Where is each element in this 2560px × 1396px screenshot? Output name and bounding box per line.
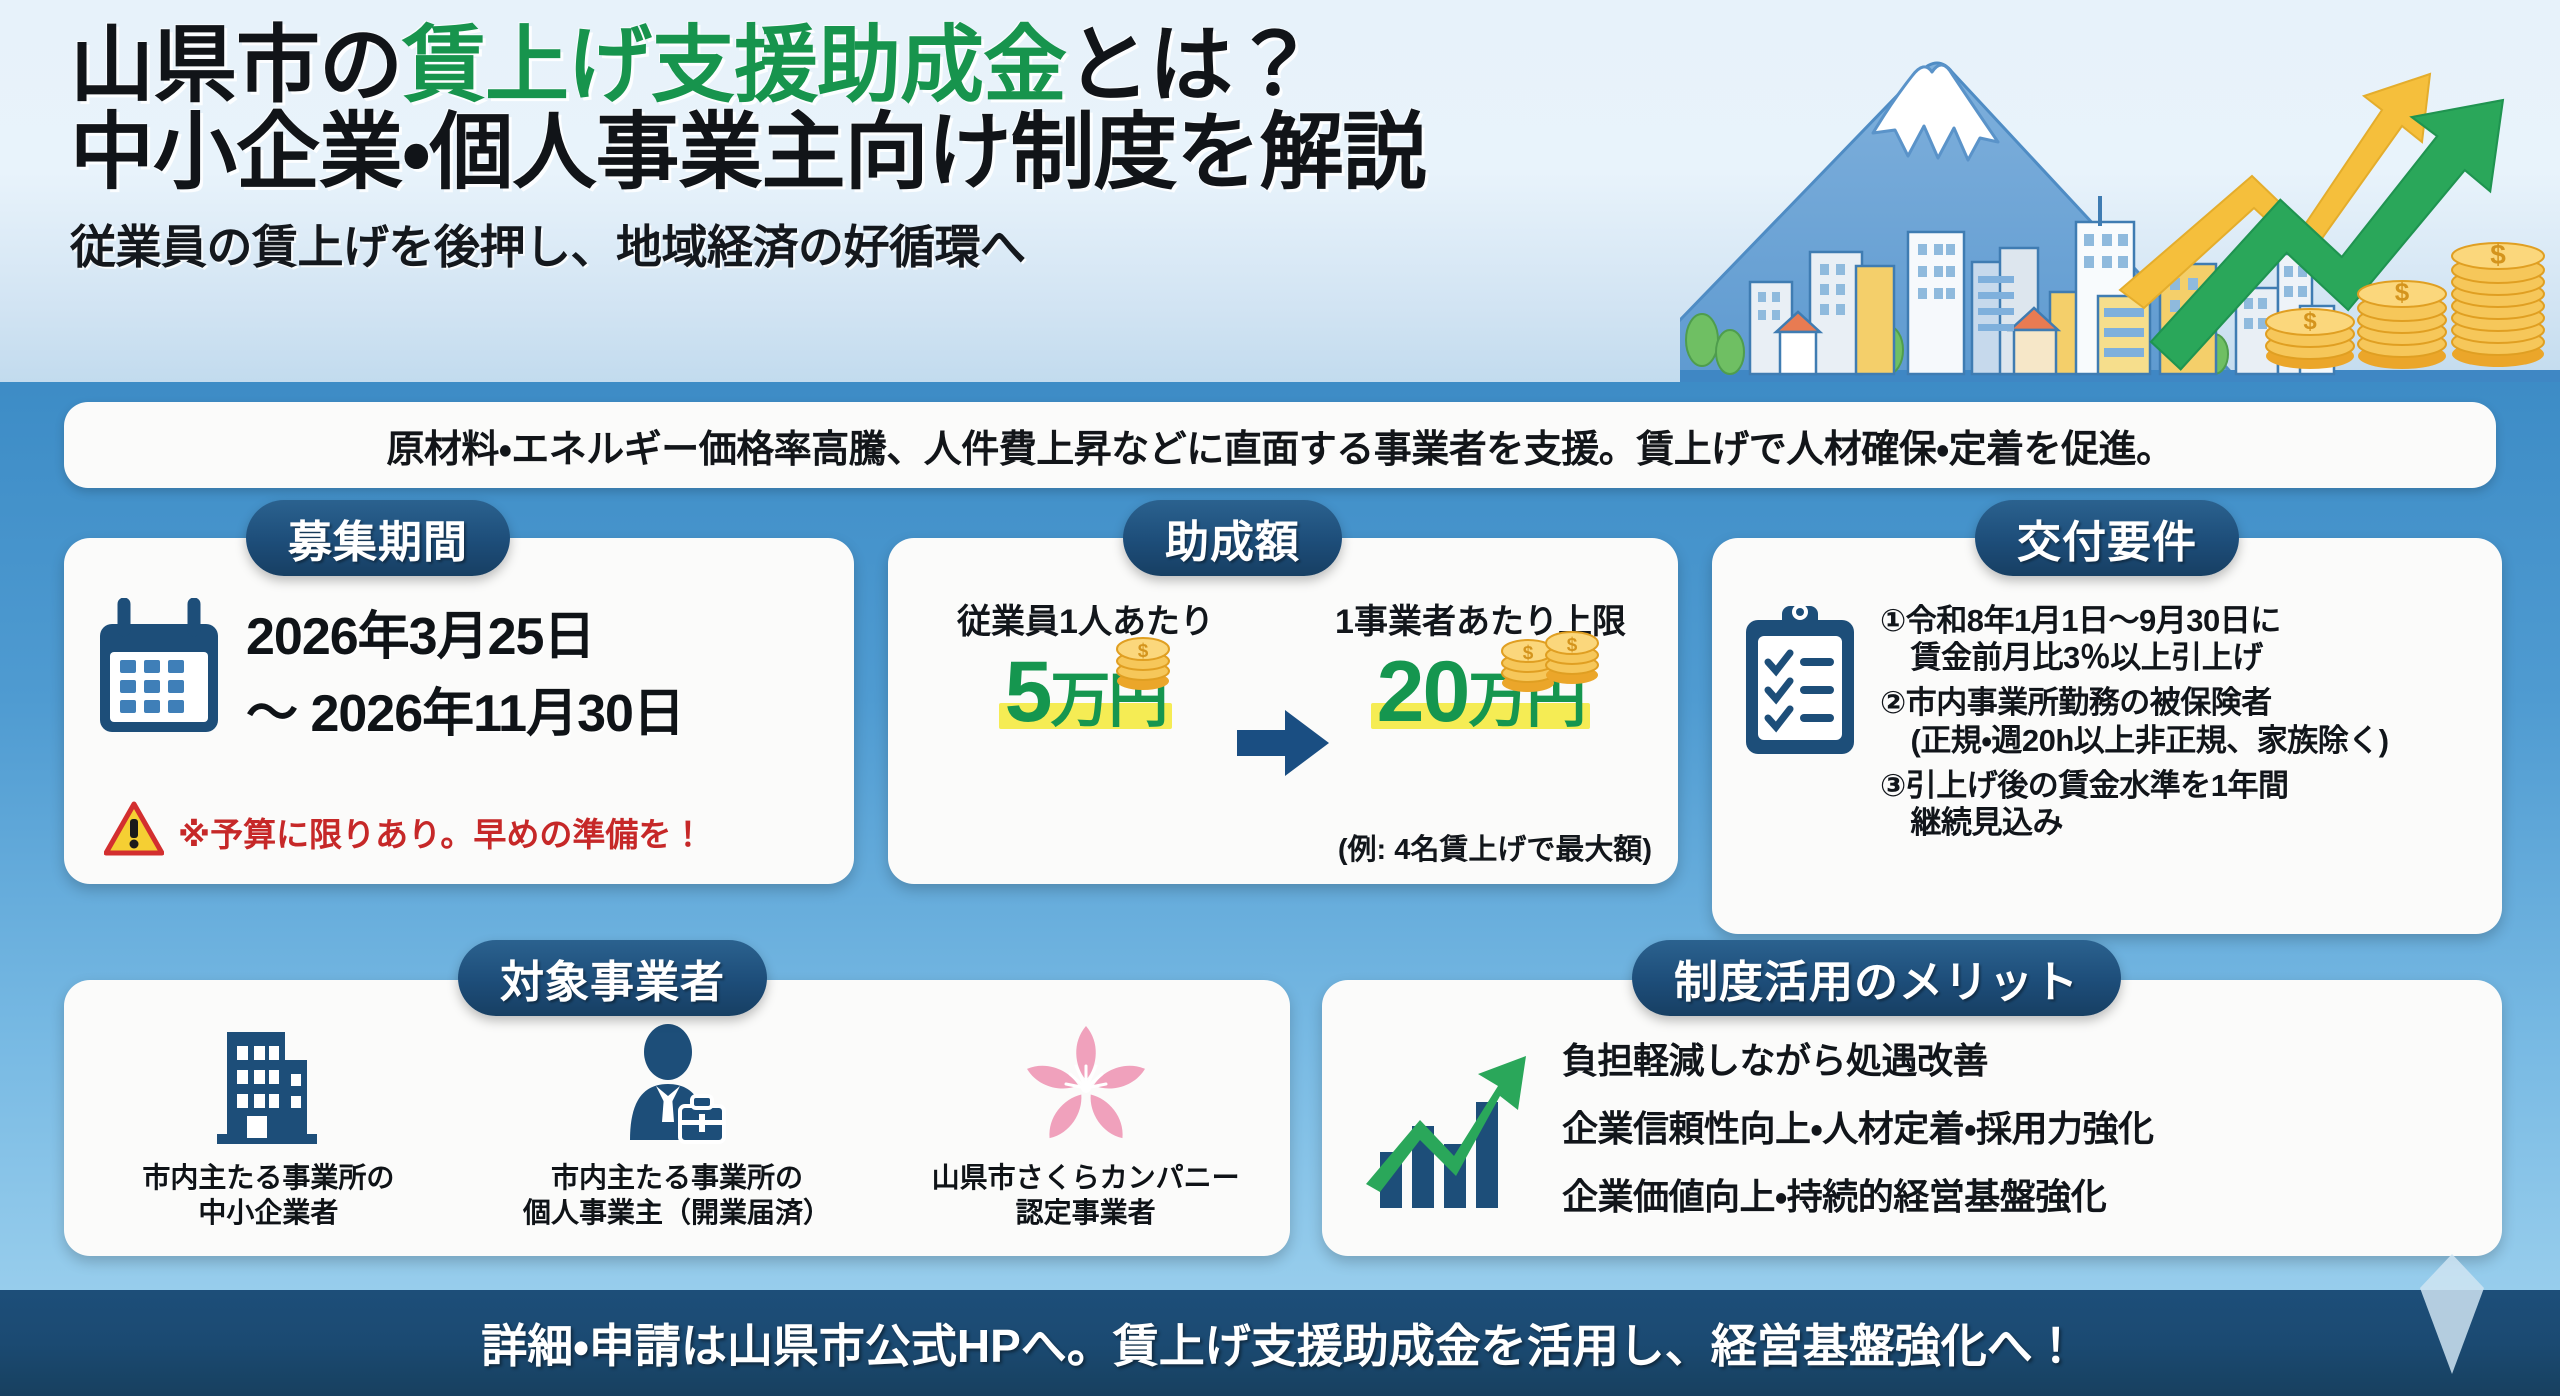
amount-number-right: 20 <box>1377 644 1469 740</box>
infographic-poster: $ $ <box>0 0 2560 1396</box>
target-label: 市内主たる事業所の 個人事業主（開業届済） <box>523 1160 831 1231</box>
page-subtitle: 従業員の賃上げを後押し、地域経済の好循環へ <box>70 211 1426 277</box>
card-target-businesses: 市内主たる事業所の 中小企業者 市内主たる事業所の 個人事業主（開 <box>64 980 1290 1256</box>
amount-value-left-wrap: $ 5万円 <box>1005 647 1167 737</box>
merit-list: 負担軽減しながら処遇改善 企業信頼性向上・人材定着・採用力強化 企業価値向上・持… <box>1562 1032 2153 1220</box>
card-merit: 負担軽減しながら処遇改善 企業信頼性向上・人材定着・採用力強化 企業価値向上・持… <box>1322 980 2502 1256</box>
title-part-a: 山県市の <box>70 18 402 112</box>
period-date-end: ～ 2026年11月30日 <box>246 671 684 746</box>
card-requirements: ①令和8年1月1日～9月30日に 賃金前月比3％以上引上げ ②市内事業所勤務の被… <box>1712 538 2502 934</box>
footer-text: 詳細・申請は山県市公式HPへ。賃上げ支援助成金を活用し、経営基盤強化へ！ <box>481 1310 2079 1376</box>
merit-item: 負担軽減しながら処遇改善 <box>1562 1032 2153 1084</box>
badge-merit: 制度活用のメリット <box>1632 940 2121 1016</box>
target-column: 市内主たる事業所の 中小企業者 <box>88 1022 448 1231</box>
merit-row: 負担軽減しながら処遇改善 企業信頼性向上・人材定着・採用力強化 企業価値向上・持… <box>1358 1032 2153 1220</box>
header-illustration: $ $ <box>1680 0 2560 382</box>
period-note-text: ※予算に限りあり。早めの準備を！ <box>178 808 704 856</box>
calendar-icon <box>94 598 224 743</box>
badge-period: 募集期間 <box>246 500 510 576</box>
badge-amount: 助成額 <box>1123 500 1342 576</box>
title-part-b: とは？ <box>1066 18 1315 112</box>
arrow-right-icon <box>1235 706 1331 785</box>
businessperson-icon <box>618 1022 736 1150</box>
badge-target-label: 対象事業者 <box>500 946 725 1010</box>
lead-banner: 原材料・エネルギー価格率高騰、人件費上昇などに直面する事業者を支援。賃上げで人材… <box>64 402 2496 488</box>
period-note: ※予算に限りあり。早めの準備を！ <box>104 801 704 862</box>
badge-target-businesses: 対象事業者 <box>458 940 767 1016</box>
target-column: 山県市さくらカンパニー 認定事業者 <box>906 1022 1266 1231</box>
amount-number-left: 5 <box>1005 644 1051 740</box>
amount-value-right-wrap: $ $ 20万円 <box>1377 647 1585 737</box>
period-date-start: 2026年3月25日 <box>246 594 684 669</box>
card-application-period: 2026年3月25日 ～ 2026年11月30日 ※予算に限りあり。早めの準備を… <box>64 538 854 884</box>
amount-column-per-business: 1事業者あたり上限 $ <box>1316 594 1646 737</box>
requirement-item: ②市内事業所勤務の被保険者 (正規・週20h以上非正規、家族除く) <box>1880 684 2389 758</box>
requirements-row: ①令和8年1月1日～9月30日に 賃金前月比3％以上引上げ ②市内事業所勤務の被… <box>1738 598 2389 841</box>
target-label: 山県市さくらカンパニー 認定事業者 <box>932 1160 1240 1231</box>
svg-text:$: $ <box>2490 239 2506 270</box>
lead-text: 原材料・エネルギー価格率高騰、人件費上昇などに直面する事業者を支援。賃上げで人材… <box>386 418 2173 473</box>
footer-bar: 詳細・申請は山県市公式HPへ。賃上げ支援助成金を活用し、経営基盤強化へ！ <box>0 1290 2560 1396</box>
period-date-list: 2026年3月25日 ～ 2026年11月30日 <box>246 594 684 746</box>
growth-bar-chart-icon <box>1358 1034 1534 1219</box>
badge-merit-label: 制度活用のメリット <box>1674 946 2079 1010</box>
target-column: 市内主たる事業所の 個人事業主（開業届済） <box>497 1022 857 1231</box>
page-title-line-2: 中小企業・個人事業主向け制度を解説 <box>70 109 1426 196</box>
card-grant-amount: 従業員1人あたり $ 5万円 1 <box>888 538 1678 884</box>
sakura-blossom-icon <box>1023 1022 1149 1150</box>
title-part-green: 賃上げ支援助成金 <box>402 18 1066 112</box>
requirement-item: ③引上げ後の賃金水準を1年間 継続見込み <box>1880 767 2389 841</box>
coin-stack-double-icon: $ $ <box>1498 617 1602 706</box>
header-section: $ $ <box>0 0 2560 382</box>
requirement-item: ①令和8年1月1日～9月30日に 賃金前月比3％以上引上げ <box>1880 602 2389 676</box>
svg-text:$: $ <box>2395 277 2410 307</box>
page-title-line-1: 山県市の賃上げ支援助成金とは？ <box>70 22 1426 109</box>
amount-column-per-employee: 従業員1人あたり $ 5万円 <box>921 594 1251 737</box>
amount-example-note: (例: 4名賃上げで最大額) <box>1338 826 1652 868</box>
svg-text:$: $ <box>2303 308 2317 335</box>
warning-triangle-icon <box>104 801 164 862</box>
header-text-block: 山県市の賃上げ支援助成金とは？ 中小企業・個人事業主向け制度を解説 従業員の賃上… <box>70 22 1426 277</box>
growth-arrow-yellow-icon <box>2120 74 2430 308</box>
svg-text:$: $ <box>1567 635 1578 656</box>
svg-text:$: $ <box>1138 641 1149 662</box>
merit-item: 企業信頼性向上・人材定着・採用力強化 <box>1562 1100 2153 1152</box>
badge-amount-label: 助成額 <box>1165 506 1300 570</box>
target-columns: 市内主たる事業所の 中小企業者 市内主たる事業所の 個人事業主（開 <box>64 1022 1290 1231</box>
badge-requirements-label: 交付要件 <box>2017 506 2197 570</box>
coin-stack-small-icon: $ <box>1110 625 1176 700</box>
office-building-icon <box>209 1022 327 1150</box>
merit-item: 企業価値向上・持続的経営基盤強化 <box>1562 1168 2153 1220</box>
target-label: 市内主たる事業所の 中小企業者 <box>142 1160 394 1231</box>
badge-requirements: 交付要件 <box>1975 500 2239 576</box>
clipboard-checklist-icon <box>1738 598 1862 765</box>
period-row: 2026年3月25日 ～ 2026年11月30日 <box>94 594 684 746</box>
requirements-list: ①令和8年1月1日～9月30日に 賃金前月比3％以上引上げ ②市内事業所勤務の被… <box>1880 598 2389 841</box>
svg-text:$: $ <box>1523 643 1534 664</box>
badge-period-label: 募集期間 <box>288 506 468 570</box>
